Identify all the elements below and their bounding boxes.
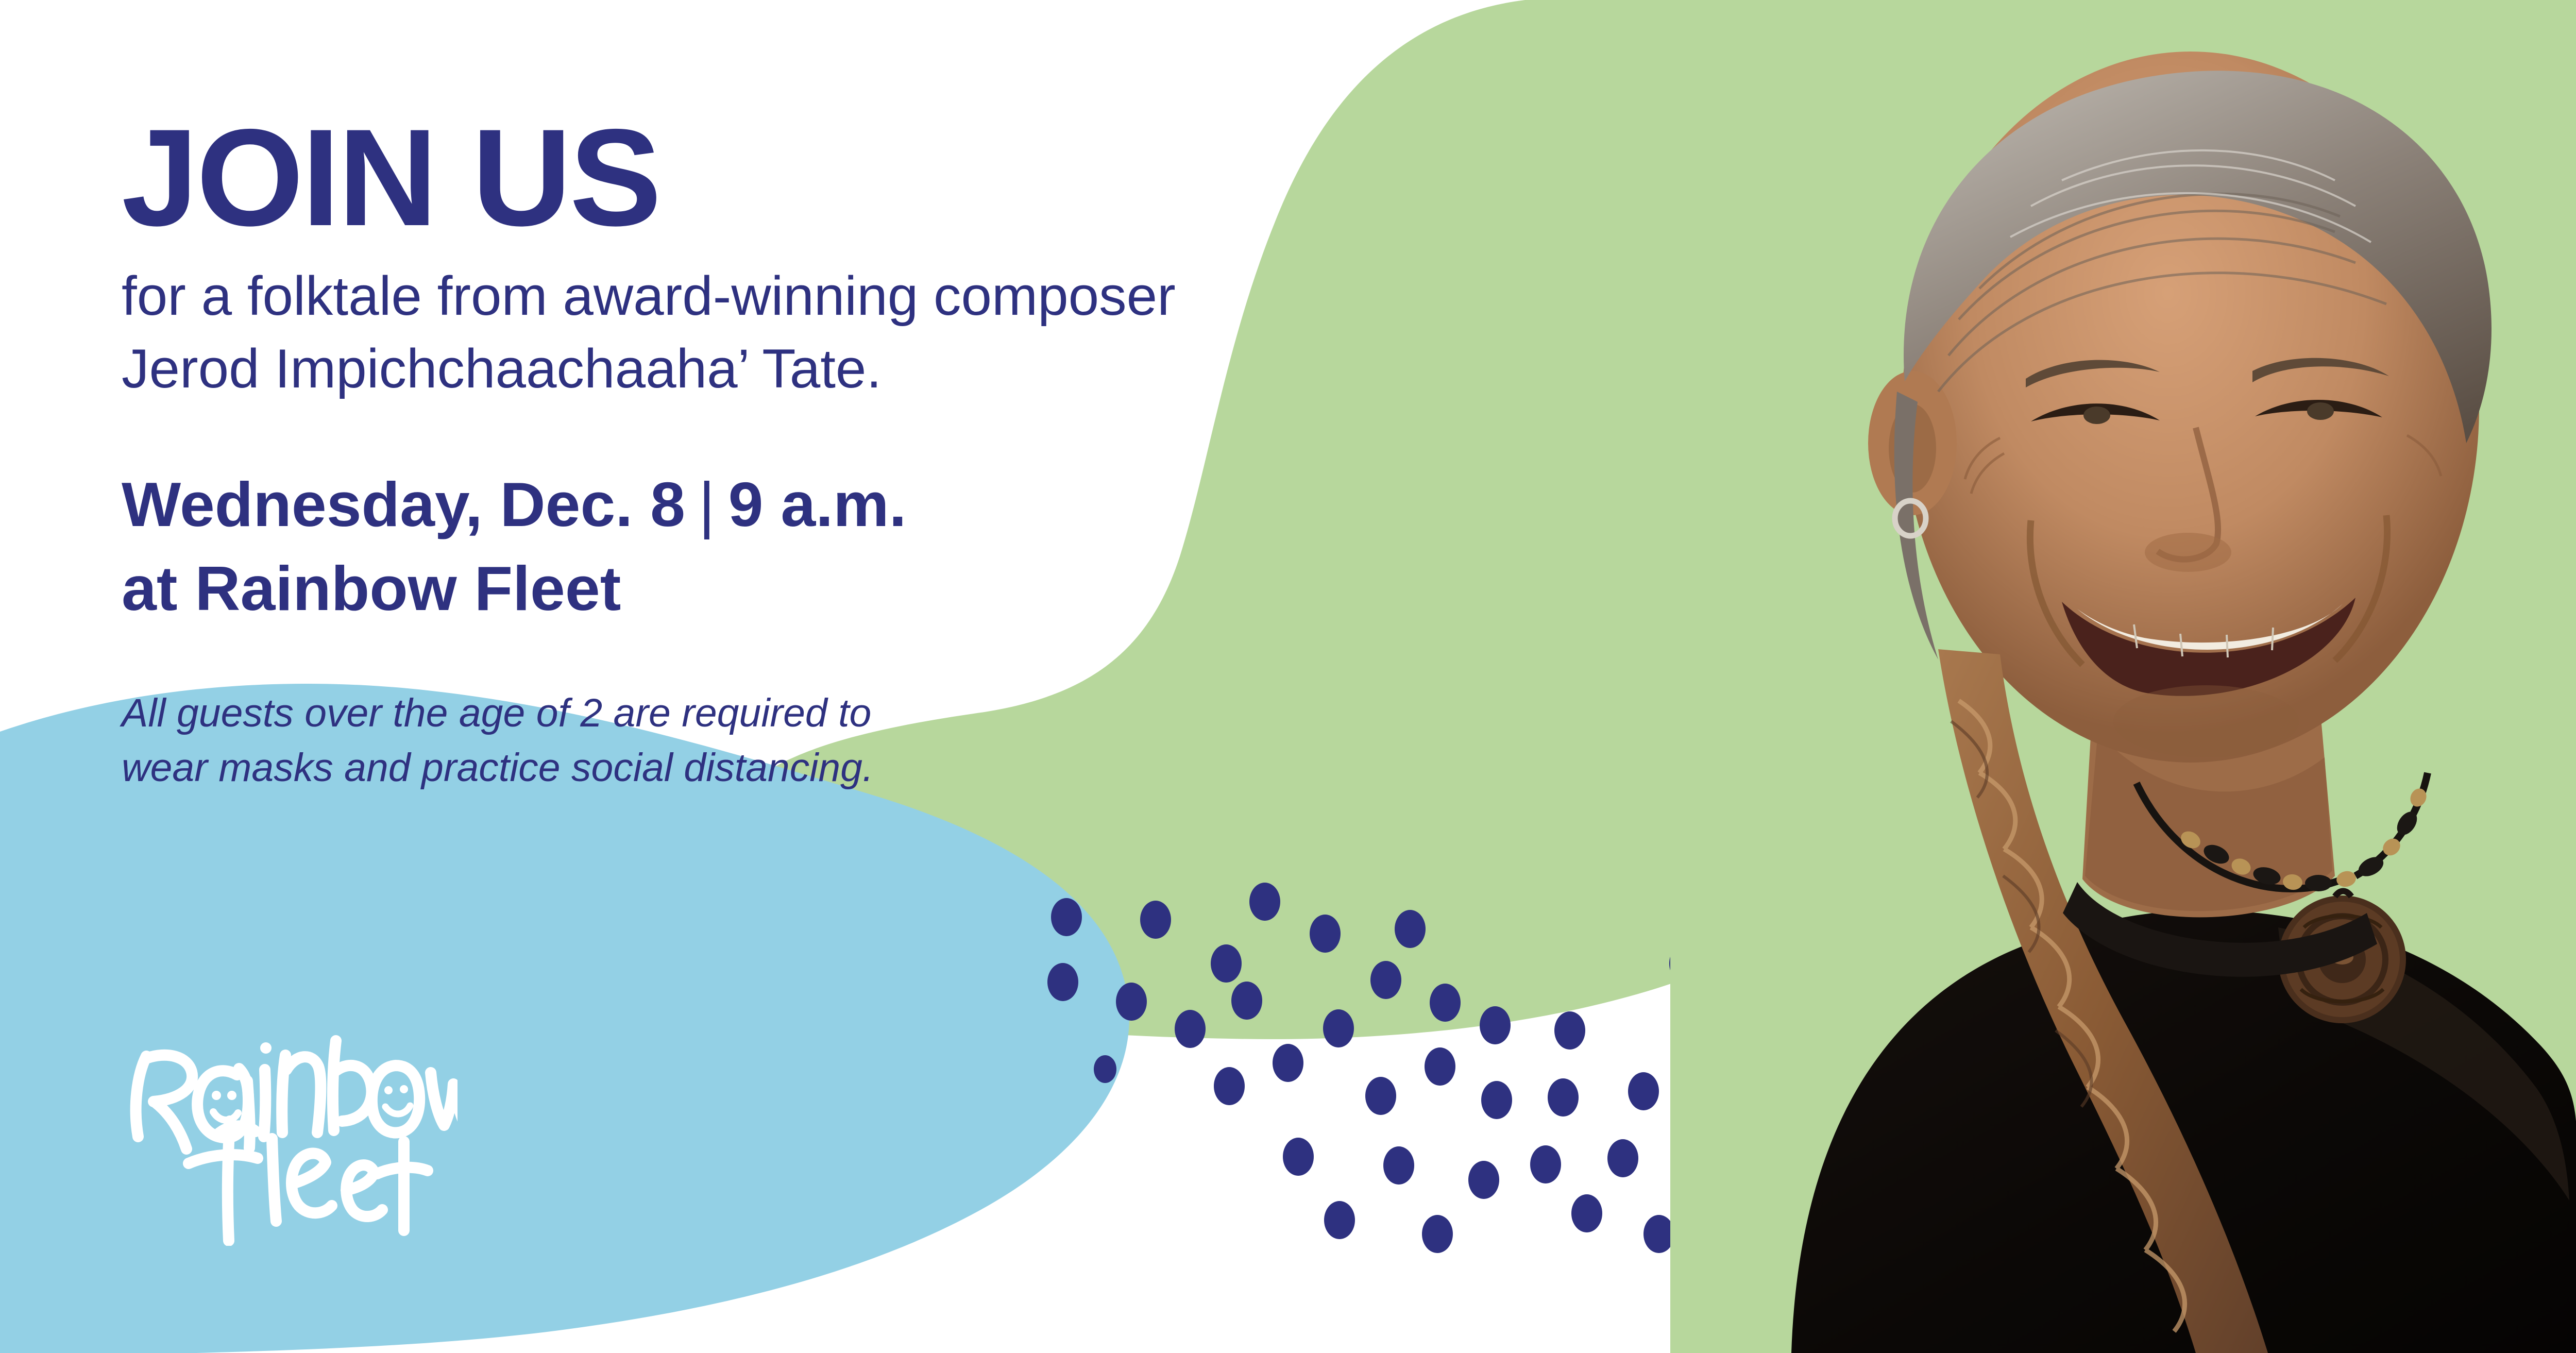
speaker-portrait-illustration — [1670, 0, 2576, 1353]
event-details: Wednesday, Dec. 8|9 a.m. at Rainbow Flee… — [122, 463, 1410, 630]
subhead-line-1: for a folktale from award-winning compos… — [122, 260, 1410, 332]
covid-disclaimer: All guests over the age of 2 are require… — [122, 686, 1410, 796]
rainbow-fleet-logo — [117, 1009, 457, 1246]
disclaimer-line-1: All guests over the age of 2 are require… — [122, 686, 1410, 740]
event-datetime-line: Wednesday, Dec. 8|9 a.m. — [122, 463, 1410, 546]
event-venue: at Rainbow Fleet — [122, 547, 1410, 630]
subhead-line-2: Jerod Impichchaachaaha’ Tate. — [122, 332, 1410, 405]
event-poster: JOIN US for a folktale from award-winnin… — [0, 0, 2576, 1353]
subhead: for a folktale from award-winning compos… — [122, 260, 1410, 405]
rainbow-fleet-logo-mark — [117, 1009, 457, 1246]
navy-dot-scatter — [1047, 883, 1700, 1253]
speaker-photo — [1670, 0, 2576, 1353]
page-title: JOIN US — [122, 108, 1410, 246]
separator-pipe: | — [685, 463, 728, 546]
text-content: JOIN US for a folktale from award-winnin… — [122, 108, 1410, 795]
event-time: 9 a.m. — [728, 469, 907, 539]
event-date: Wednesday, Dec. 8 — [122, 469, 685, 539]
disclaimer-line-2: wear masks and practice social distancin… — [122, 740, 1410, 795]
